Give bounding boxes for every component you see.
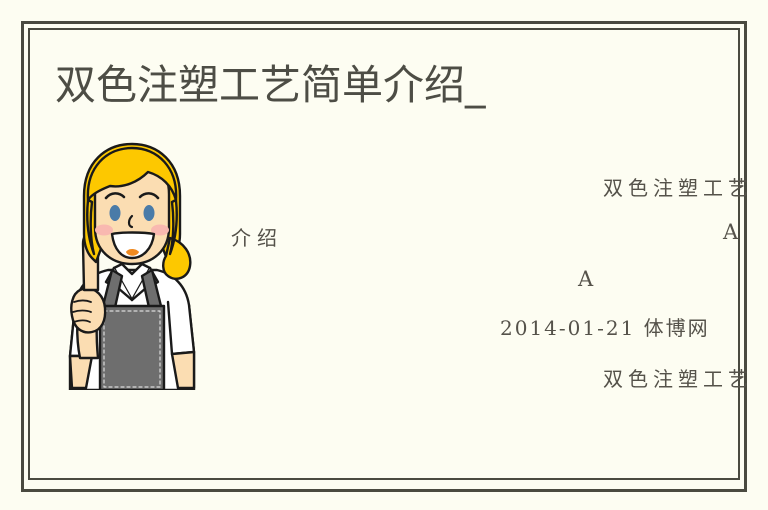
annotation-line-right-top: 双色注塑工艺 — [603, 172, 753, 201]
annotation-letter-a-center: A — [578, 267, 593, 291]
annotation-line-right-bottom: 双色注塑工艺 — [603, 363, 753, 392]
annotation-intro-label: 介绍 — [231, 222, 283, 251]
annotation-letter-a-right: A — [723, 220, 738, 244]
poster-canvas: 双色注塑工艺简单介绍_ — [0, 0, 768, 510]
cartoon-woman-pointing-up-illustration — [62, 142, 202, 390]
page-title: 双色注塑工艺简单介绍_ — [55, 61, 486, 109]
annotation-date-source: 2014-01-21 体博网 — [500, 312, 710, 341]
